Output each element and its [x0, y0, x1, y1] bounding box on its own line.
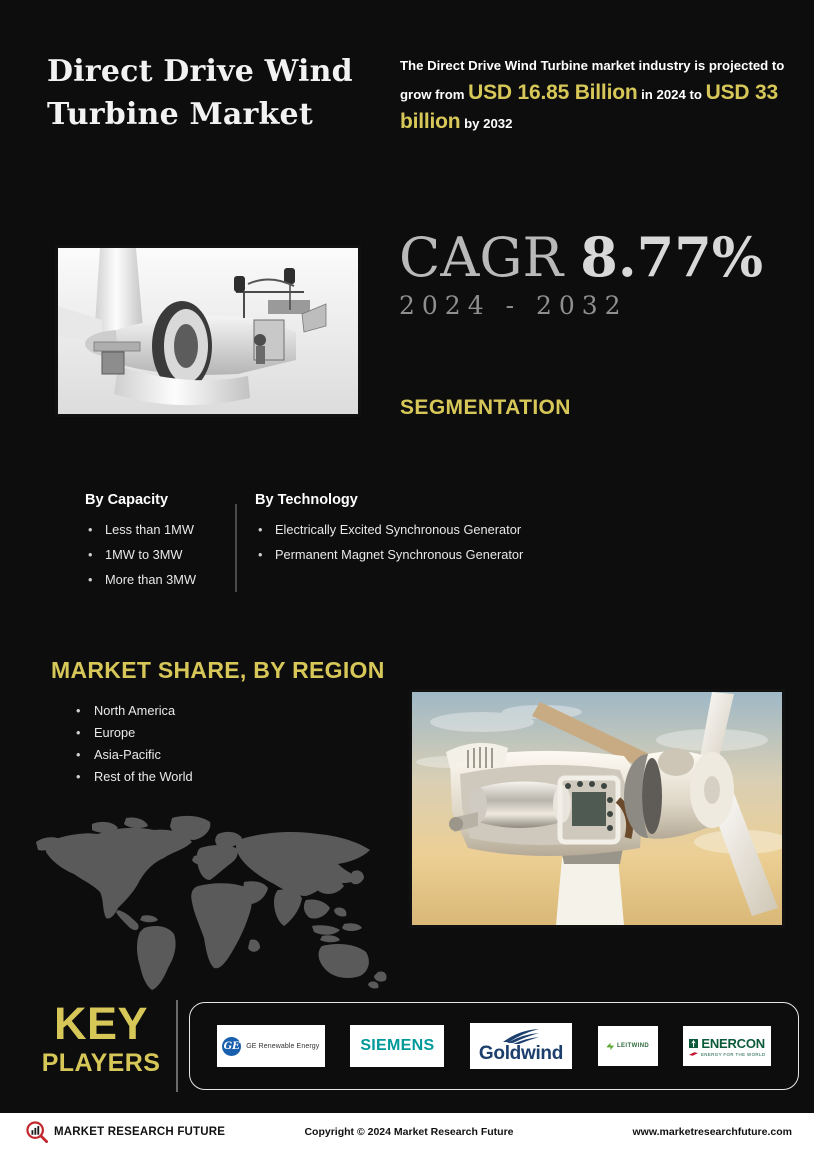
logo-leitwind-text: LEITWIND — [617, 1043, 649, 1049]
segmentation-title-technology: By Technology — [255, 492, 695, 508]
bullet-icon: • — [76, 744, 80, 766]
infographic-page: Direct Drive Wind Turbine Market The Dir… — [0, 0, 814, 1150]
footer-brand-text: MARKET RESEARCH FUTURE — [54, 1126, 225, 1138]
segmentation-divider — [235, 504, 237, 592]
logo-enercon-tagline: ENERGY FOR THE WORLD — [701, 1052, 765, 1057]
logo-enercon[interactable]: ENERCON ENERGY FOR THE WORLD — [683, 1026, 771, 1066]
logo-goldwind-text: Goldwind — [479, 1044, 563, 1064]
segmentation-column-capacity: By Capacity •Less than 1MW •1MW to 3MW •… — [85, 492, 235, 592]
list-item: •More than 3MW — [85, 567, 235, 592]
bullet-icon: • — [88, 542, 92, 567]
bullet-icon: • — [258, 517, 262, 542]
segmentation-list-technology: •Electrically Excited Synchronous Genera… — [255, 517, 695, 567]
list-item: •North America — [74, 700, 193, 722]
bullet-icon: • — [258, 542, 262, 567]
list-item: •Permanent Magnet Synchronous Generator — [255, 542, 695, 567]
enercon-accent-icon — [689, 1052, 698, 1056]
bullet-icon: • — [88, 517, 92, 542]
cagr-period: 2024 - 2032 — [399, 291, 763, 320]
list-item: •Europe — [74, 722, 193, 744]
leitwind-mark-icon — [606, 1042, 615, 1051]
logo-ge-renewable-energy[interactable]: GE GE Renewable Energy — [217, 1025, 325, 1067]
segmentation-capacity-item-2: More than 3MW — [105, 572, 196, 587]
page-title: Direct Drive Wind Turbine Market — [47, 50, 377, 136]
goldwind-swoosh-icon — [501, 1028, 541, 1044]
region-item-0: North America — [94, 703, 175, 718]
footer-brand-logo[interactable]: MARKET RESEARCH FUTURE — [26, 1121, 276, 1143]
bullet-icon: • — [76, 700, 80, 722]
cagr-line: CAGR 8.77% — [399, 228, 763, 287]
footer-copyright: Copyright © 2024 Market Research Future — [276, 1126, 542, 1138]
logo-siemens-text: SIEMENS — [360, 1037, 434, 1055]
logo-leitwind[interactable]: LEITWIND — [598, 1026, 658, 1066]
enercon-mark-icon — [689, 1039, 698, 1048]
cagr-label: CAGR — [399, 226, 563, 289]
segmentation-capacity-item-1: 1MW to 3MW — [105, 547, 183, 562]
region-item-3: Rest of the World — [94, 769, 193, 784]
world-map-graphic — [22, 800, 412, 990]
list-item: •Asia-Pacific — [74, 744, 193, 766]
segmentation-technology-item-0: Electrically Excited Synchronous Generat… — [275, 522, 521, 537]
segmentation-technology-item-1: Permanent Magnet Synchronous Generator — [275, 547, 523, 562]
turbine-sunset-image — [409, 689, 785, 928]
segmentation-column-technology: By Technology •Electrically Excited Sync… — [255, 492, 695, 592]
segmentation-capacity-item-0: Less than 1MW — [105, 522, 194, 537]
magnifying-glass-bar-chart-icon — [26, 1121, 48, 1143]
list-item: •Less than 1MW — [85, 517, 235, 542]
market-summary: The Direct Drive Wind Turbine market ind… — [400, 52, 805, 137]
region-item-1: Europe — [94, 725, 135, 740]
cagr-block: CAGR 8.77% 2024 - 2032 — [399, 228, 763, 320]
logo-ge-text: GE Renewable Energy — [246, 1043, 319, 1050]
region-item-2: Asia-Pacific — [94, 747, 161, 762]
list-item: •1MW to 3MW — [85, 542, 235, 567]
cagr-value: 8.77% — [580, 225, 763, 289]
segmentation-title-capacity: By Capacity — [85, 492, 235, 508]
bullet-icon: • — [88, 567, 92, 592]
key-players-label-bottom: PLAYERS — [31, 1048, 171, 1078]
segmentation-columns: By Capacity •Less than 1MW •1MW to 3MW •… — [85, 492, 725, 592]
logo-siemens[interactable]: SIEMENS — [350, 1025, 444, 1067]
logo-enercon-text: ENERCON — [701, 1036, 765, 1051]
market-share-region-list: •North America •Europe •Asia-Pacific •Re… — [74, 700, 193, 788]
logo-goldwind[interactable]: Goldwind — [470, 1023, 572, 1069]
key-players-label-top: KEY — [31, 1000, 171, 1048]
page-footer: MARKET RESEARCH FUTURE Copyright © 2024 … — [0, 1113, 814, 1150]
ge-monogram-icon: GE — [222, 1037, 241, 1056]
nacelle-grayscale-image — [55, 245, 361, 417]
key-players-logo-container: GE GE Renewable Energy SIEMENS Goldwind — [189, 1002, 799, 1090]
list-item: •Rest of the World — [74, 766, 193, 788]
summary-value-from: USD 16.85 Billion — [468, 81, 637, 104]
key-players-divider — [176, 1000, 178, 1092]
bullet-icon: • — [76, 766, 80, 788]
list-item: •Electrically Excited Synchronous Genera… — [255, 517, 695, 542]
key-players-label: KEY PLAYERS — [31, 1000, 171, 1078]
segmentation-heading: SEGMENTATION — [400, 396, 571, 420]
bullet-icon: • — [76, 722, 80, 744]
market-share-heading: MARKET SHARE, BY REGION — [51, 657, 385, 684]
summary-mid: in 2024 to — [637, 87, 705, 102]
summary-tail: by 2032 — [460, 116, 512, 131]
segmentation-list-capacity: •Less than 1MW •1MW to 3MW •More than 3M… — [85, 517, 235, 592]
footer-website-url[interactable]: www.marketresearchfuture.com — [542, 1126, 792, 1138]
